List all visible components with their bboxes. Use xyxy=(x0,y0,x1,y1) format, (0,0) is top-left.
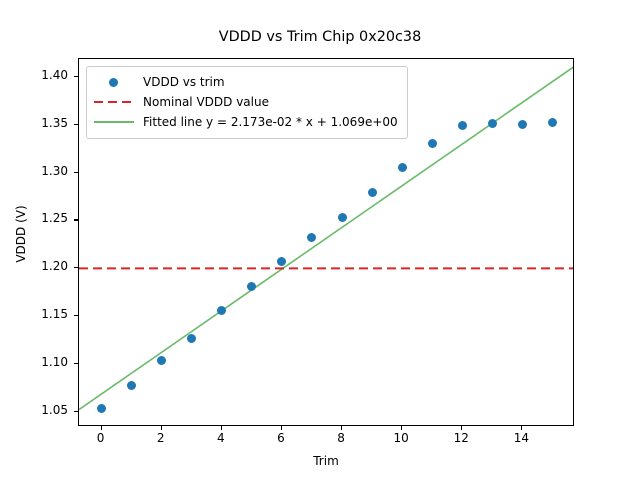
data-point xyxy=(127,381,136,390)
y-tick-label: 1.30 xyxy=(20,164,68,178)
data-point xyxy=(488,119,497,128)
y-tick-label: 1.35 xyxy=(20,116,68,130)
x-tick xyxy=(461,426,462,430)
x-tick-label: 12 xyxy=(441,431,481,445)
y-tick-label: 1.40 xyxy=(20,68,68,82)
plot-area: VDDD vs trim Nominal VDDD value Fitted l… xyxy=(78,58,574,426)
y-tick-label: 1.10 xyxy=(20,355,68,369)
y-tick-label: 1.20 xyxy=(20,259,68,273)
chart-figure: VDDD vs Trim Chip 0x20c38 VDDD (V) Trim … xyxy=(0,0,640,480)
y-tick-label: 1.05 xyxy=(20,403,68,417)
data-point xyxy=(458,121,467,130)
chart-title: VDDD vs Trim Chip 0x20c38 xyxy=(0,29,640,45)
legend-item-nominal-vddd: Nominal VDDD value xyxy=(94,92,398,112)
y-tick-label: 1.25 xyxy=(20,211,68,225)
x-tick-label: 14 xyxy=(501,431,541,445)
data-point xyxy=(398,163,407,172)
data-point xyxy=(97,404,106,413)
x-axis-label: Trim xyxy=(78,454,574,468)
x-tick xyxy=(101,426,102,430)
x-tick xyxy=(341,426,342,430)
y-tick-label: 1.15 xyxy=(20,307,68,321)
legend-label: VDDD vs trim xyxy=(143,75,225,89)
dashed-line-key xyxy=(94,95,134,109)
data-point xyxy=(187,334,196,343)
x-tick-label: 4 xyxy=(201,431,241,445)
legend-label: Fitted line y = 2.173e-02 * x + 1.069e+0… xyxy=(143,115,398,129)
data-point xyxy=(518,120,527,129)
x-tick xyxy=(161,426,162,430)
legend: VDDD vs trim Nominal VDDD value Fitted l… xyxy=(86,66,408,139)
x-tick xyxy=(401,426,402,430)
legend-item-fitted-line: Fitted line y = 2.173e-02 * x + 1.069e+0… xyxy=(94,112,398,132)
legend-item-vddd-vs-trim: VDDD vs trim xyxy=(94,72,398,92)
data-point xyxy=(157,356,166,365)
x-tick xyxy=(521,426,522,430)
data-point xyxy=(338,213,347,222)
data-point xyxy=(368,188,377,197)
x-tick-label: 10 xyxy=(381,431,421,445)
scatter-dot-key xyxy=(94,75,134,89)
x-tick xyxy=(281,426,282,430)
x-tick-label: 8 xyxy=(321,431,361,445)
solid-line-key xyxy=(94,115,134,129)
x-tick-label: 0 xyxy=(81,431,121,445)
data-point xyxy=(428,139,437,148)
x-tick-label: 2 xyxy=(141,431,181,445)
x-tick-label: 6 xyxy=(261,431,301,445)
x-tick xyxy=(221,426,222,430)
legend-label: Nominal VDDD value xyxy=(143,95,269,109)
